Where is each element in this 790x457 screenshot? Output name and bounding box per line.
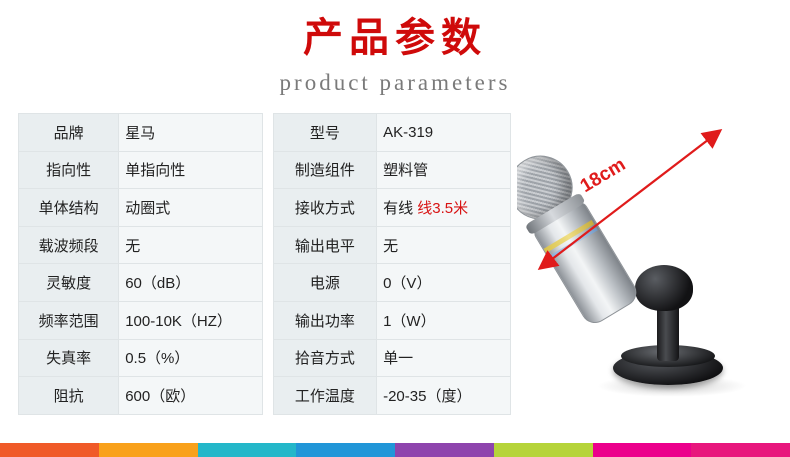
table-row: 型号 AK-319 (273, 114, 511, 152)
color-swatch (99, 443, 198, 457)
spec-label: 拾音方式 (273, 339, 377, 377)
spec-value-text: -20-35（度） (383, 388, 471, 405)
spec-label: 输出电平 (273, 226, 377, 264)
spec-value-text: 塑料管 (383, 162, 428, 179)
spec-label: 品牌 (19, 114, 119, 152)
spec-value-text: AK-319 (383, 124, 433, 141)
spec-label: 阻抗 (19, 377, 119, 415)
bottom-color-bar (0, 443, 790, 457)
spec-value: 塑料管 (377, 151, 511, 189)
table-row: 载波频段 无 (19, 226, 263, 264)
color-swatch (593, 443, 692, 457)
spec-value: 单指向性 (119, 151, 263, 189)
spec-label: 接收方式 (273, 189, 377, 227)
spec-value: 600（欧） (119, 377, 263, 415)
spec-value-text: 单一 (383, 350, 413, 367)
color-swatch (395, 443, 494, 457)
spec-table-left: 品牌 星马 指向性 单指向性 单体结构 动圈式 载波频段 无 灵敏度 60（dB… (18, 113, 263, 415)
spec-value: 无 (377, 226, 511, 264)
spec-label: 失真率 (19, 339, 119, 377)
spec-label: 灵敏度 (19, 264, 119, 302)
color-swatch (198, 443, 297, 457)
spec-value: 100-10K（HZ） (119, 301, 263, 339)
page-title-en: product parameters (0, 68, 790, 98)
spec-value-text: 0（V） (383, 275, 431, 292)
spec-label: 制造组件 (273, 151, 377, 189)
spec-label: 载波频段 (19, 226, 119, 264)
page-title-block: 产品参数 product parameters (0, 0, 790, 98)
spec-content: 品牌 星马 指向性 单指向性 单体结构 动圈式 载波频段 无 灵敏度 60（dB… (18, 113, 772, 419)
spec-value: 动圈式 (119, 189, 263, 227)
table-row: 制造组件 塑料管 (273, 151, 511, 189)
spec-label: 工作温度 (273, 377, 377, 415)
color-swatch (0, 443, 99, 457)
spec-value: 1（W） (377, 301, 511, 339)
spec-value: -20-35（度） (377, 377, 511, 415)
table-row: 灵敏度 60（dB） (19, 264, 263, 302)
table-row: 阻抗 600（欧） (19, 377, 263, 415)
table-row: 接收方式 有线 线3.5米 (273, 189, 511, 227)
page-title-cn: 产品参数 (0, 14, 790, 62)
spec-value: 无 (119, 226, 263, 264)
table-row: 品牌 星马 (19, 114, 263, 152)
color-swatch (296, 443, 395, 457)
table-row: 单体结构 动圈式 (19, 189, 263, 227)
spec-label: 输出功率 (273, 301, 377, 339)
spec-value: 星马 (119, 114, 263, 152)
spec-value-text: 1（W） (383, 313, 436, 330)
table-row: 工作温度 -20-35（度） (273, 377, 511, 415)
table-row: 失真率 0.5（%） (19, 339, 263, 377)
spec-label: 单体结构 (19, 189, 119, 227)
table-row: 输出电平 无 (273, 226, 511, 264)
spec-value: 60（dB） (119, 264, 263, 302)
table-row: 指向性 单指向性 (19, 151, 263, 189)
spec-table-right: 型号 AK-319 制造组件 塑料管 接收方式 有线 线3.5米 输出电平 (273, 113, 512, 415)
table-row: 频率范围 100-10K（HZ） (19, 301, 263, 339)
spec-value: 单一 (377, 339, 511, 377)
spec-value: 0（V） (377, 264, 511, 302)
spec-label: 指向性 (19, 151, 119, 189)
table-row: 输出功率 1（W） (273, 301, 511, 339)
spec-value: 有线 线3.5米 (377, 189, 511, 227)
spec-value: AK-319 (377, 114, 511, 152)
microphone-body (517, 130, 667, 345)
spec-value: 0.5（%） (119, 339, 263, 377)
table-row: 电源 0（V） (273, 264, 511, 302)
spec-label: 电源 (273, 264, 377, 302)
color-swatch (494, 443, 593, 457)
table-row: 拾音方式 单一 (273, 339, 511, 377)
spec-value-text: 有线 (383, 200, 413, 217)
spec-value-note: 线3.5米 (417, 200, 468, 217)
spec-label: 型号 (273, 114, 377, 152)
product-photo: 18cm (517, 113, 772, 419)
spec-value-text: 无 (383, 238, 398, 255)
color-swatch (691, 443, 790, 457)
spec-label: 频率范围 (19, 301, 119, 339)
